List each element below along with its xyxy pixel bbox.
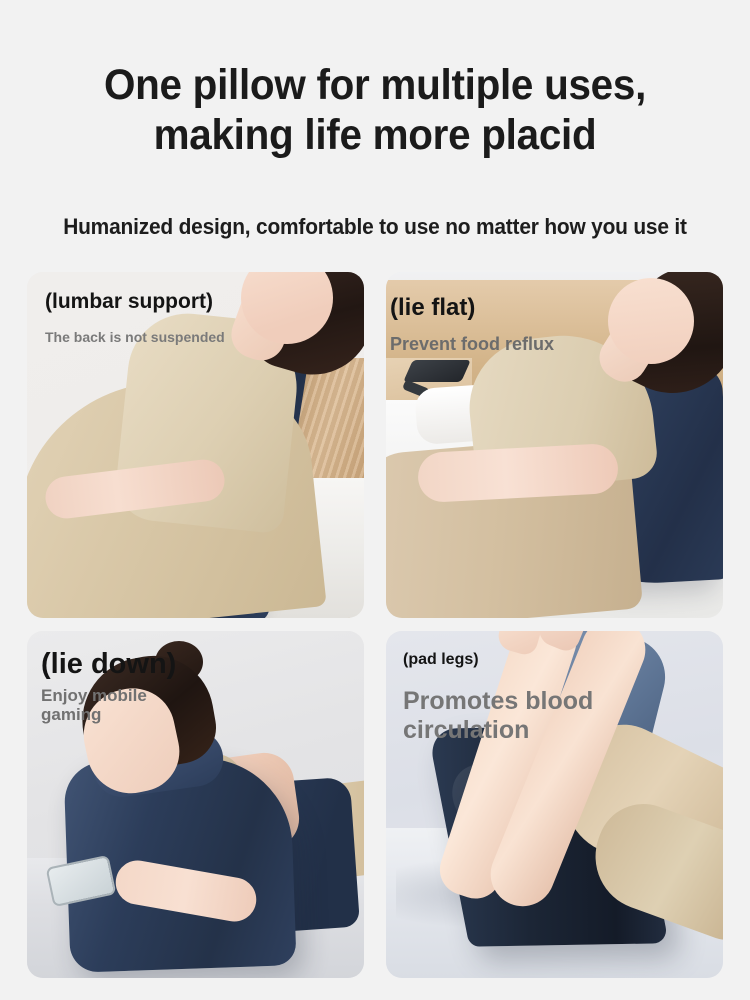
panel-lie-down[interactable]: (lie down) Enjoy mobile gaming (27, 631, 364, 978)
person-arms (417, 443, 619, 503)
panel-lie-flat-subtitle: Prevent food reflux (390, 334, 554, 355)
panel-lie-down-title: (lie down) (41, 648, 176, 681)
panel-lie-down-subtitle: Enjoy mobile gaming (41, 686, 147, 724)
feature-panel-grid: (lumbar support) The back is not suspend… (27, 272, 723, 978)
page-subtitle: Humanized design, comfortable to use no … (19, 213, 732, 241)
panel-lie-flat-title: (lie flat) (390, 294, 475, 322)
panel-lie-down-illustration (27, 631, 364, 978)
page-title: One pillow for multiple uses, making lif… (23, 60, 728, 160)
page-title-line-2: making life more placid (23, 110, 728, 160)
panel-lumbar-support-illustration (27, 272, 364, 618)
panel-lie-flat[interactable]: (lie flat) Prevent food reflux (386, 272, 723, 618)
panel-pad-legs-title: (pad legs) (403, 651, 479, 669)
tablet-device (403, 360, 471, 382)
panel-lumbar-support[interactable]: (lumbar support) The back is not suspend… (27, 272, 364, 618)
product-feature-page: One pillow for multiple uses, making lif… (0, 0, 750, 1000)
panel-pad-legs-subtitle: Promotes blood circulation (403, 687, 723, 745)
panel-lumbar-support-subtitle: The back is not suspended (45, 329, 225, 345)
panel-lumbar-support-title: (lumbar support) (45, 290, 213, 314)
page-title-line-1: One pillow for multiple uses, (23, 60, 728, 110)
panel-pad-legs[interactable]: (pad legs) Promotes blood circulation (386, 631, 723, 978)
panel-pad-legs-illustration (386, 631, 723, 978)
panel-lie-flat-illustration (386, 272, 723, 618)
